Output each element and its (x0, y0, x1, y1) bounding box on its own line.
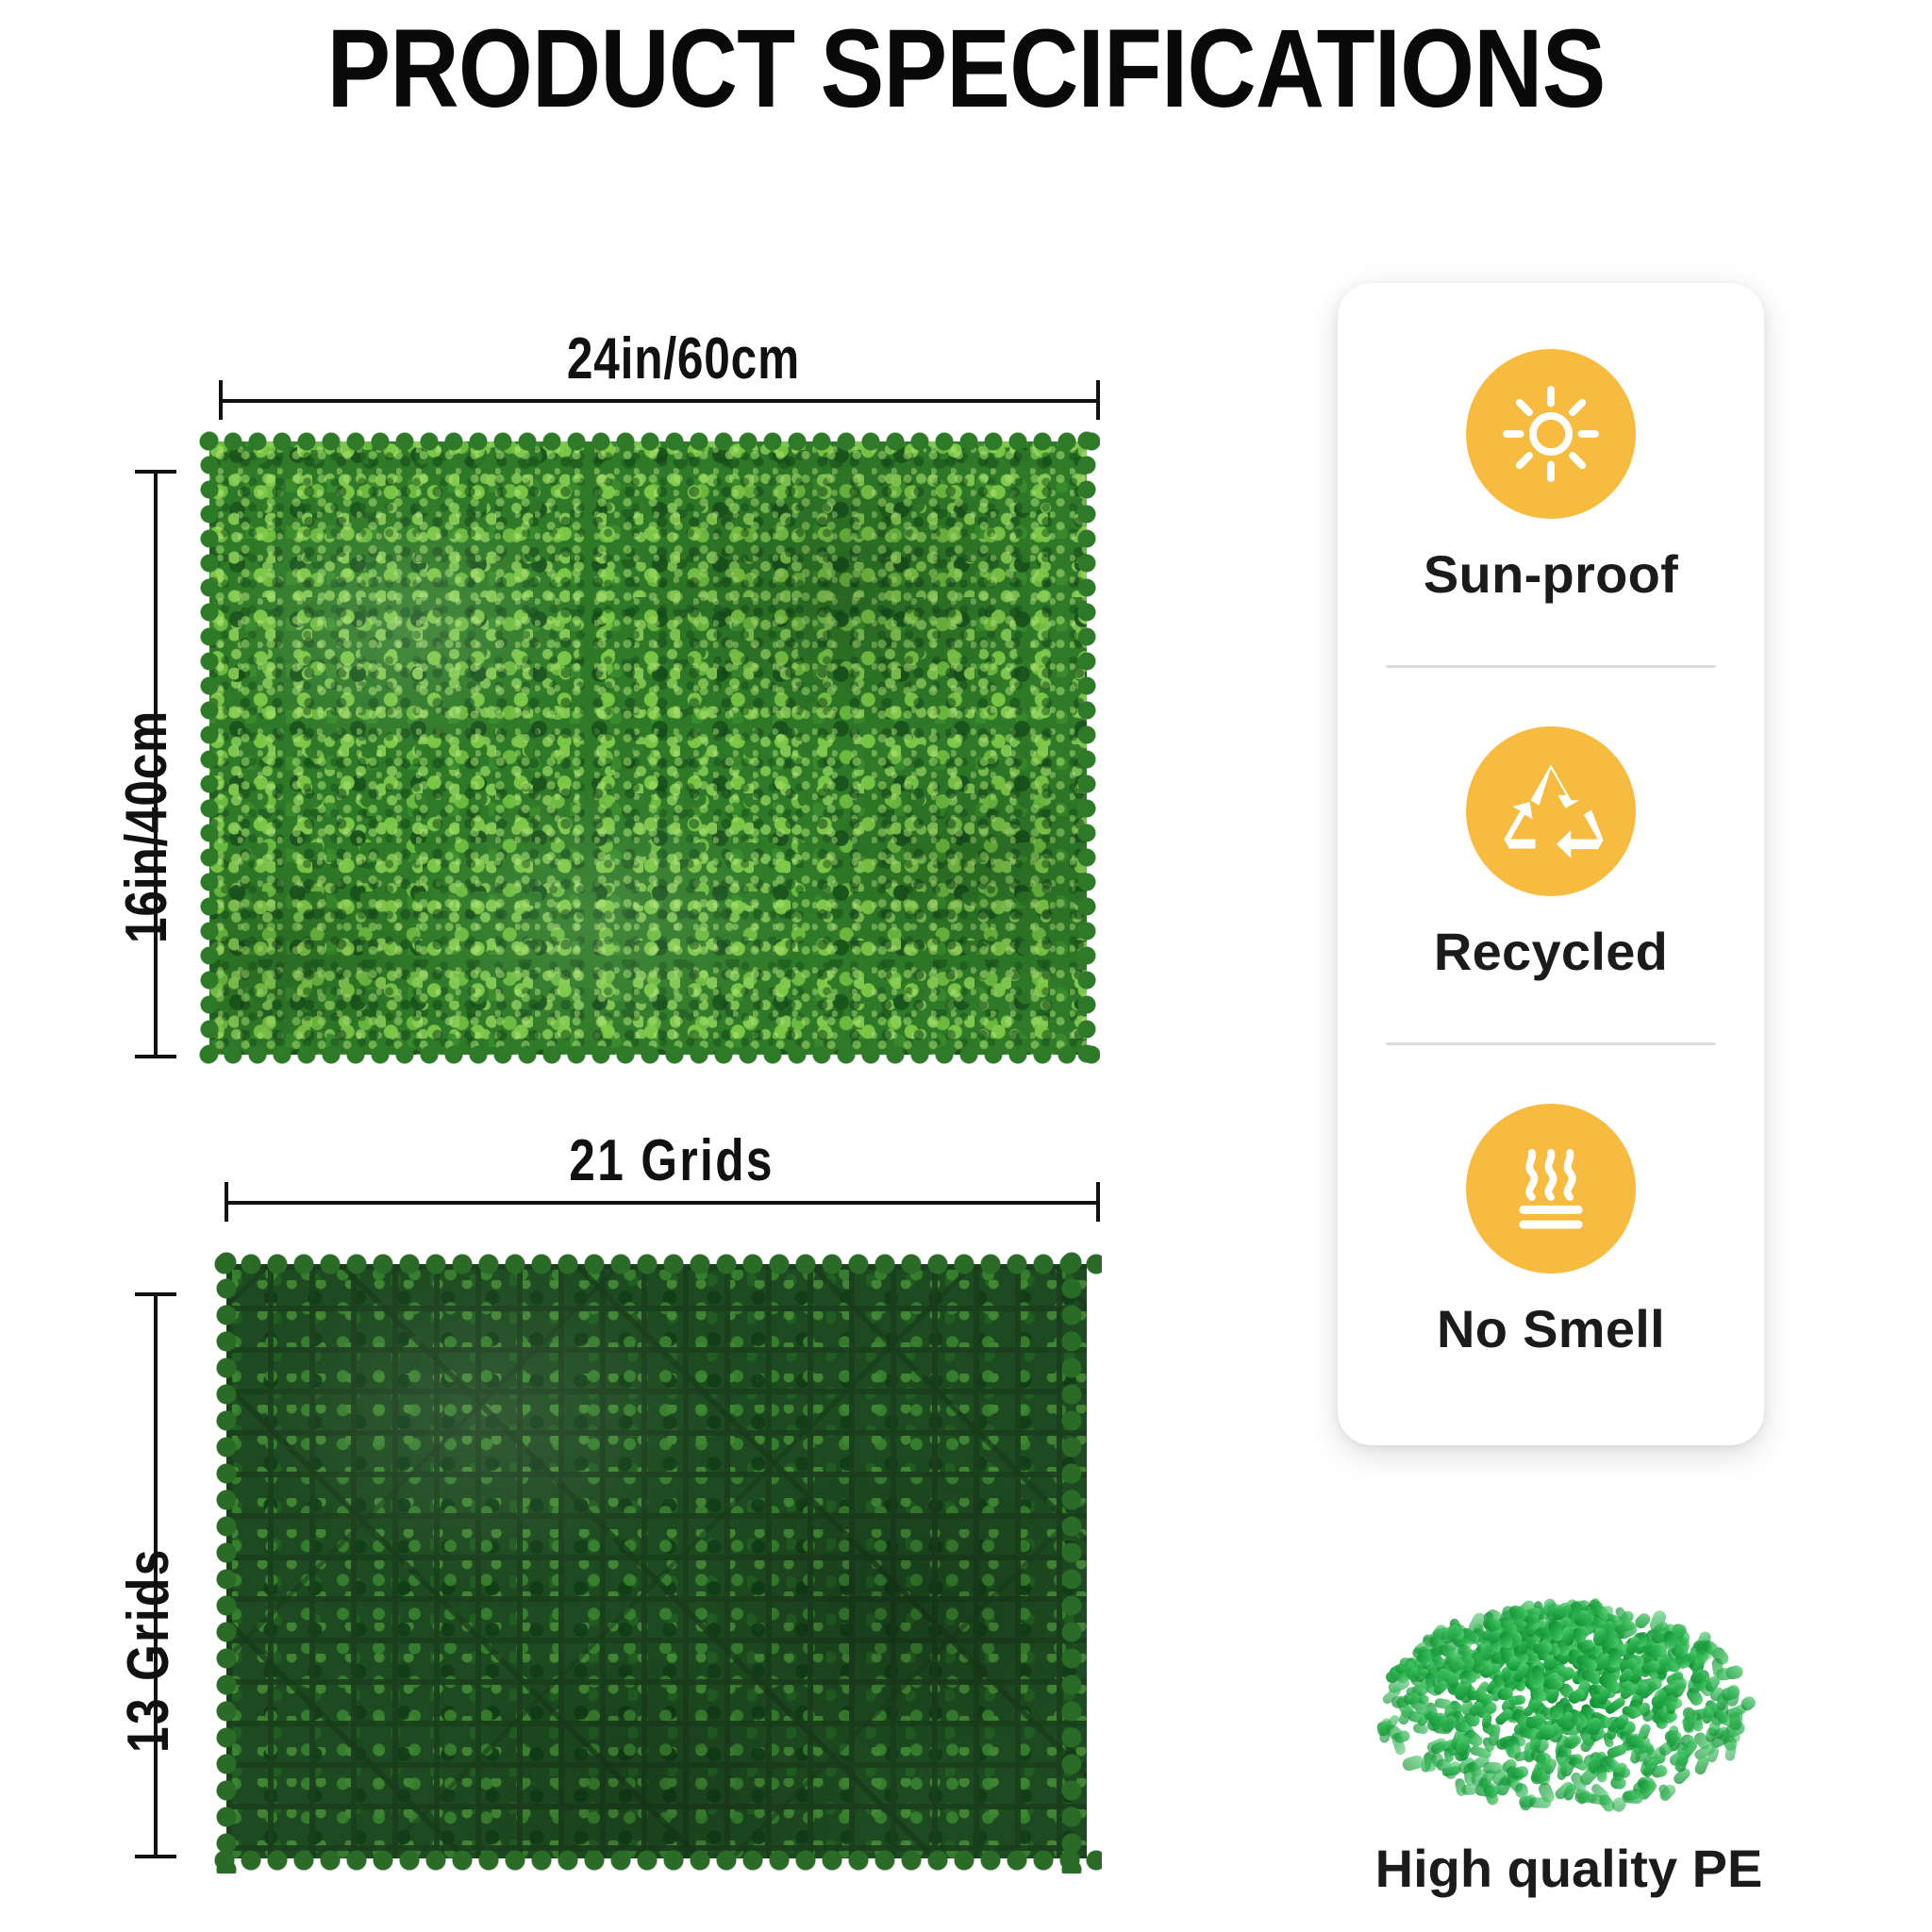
back-panel-width-dimension-line (225, 1201, 1100, 1205)
front-panel-height-cap-top (135, 470, 176, 474)
front-panel-width-cap-left (219, 380, 223, 420)
pellet-group (1375, 1597, 1758, 1814)
backing-foliage-texture (226, 1264, 1087, 1858)
recycle-icon (1495, 756, 1607, 867)
feature-label-sun-proof: Sun-proof (1424, 543, 1678, 605)
hedge-panel-front-image (209, 441, 1087, 1055)
back-panel-height-cap-bottom (135, 1855, 176, 1858)
sun-icon-badge (1466, 349, 1636, 519)
feature-divider-1 (1386, 665, 1716, 668)
feature-no-smell[interactable]: No Smell (1338, 1104, 1764, 1359)
feature-recycled[interactable]: Recycled (1338, 726, 1764, 982)
front-panel-width-cap-right (1096, 380, 1100, 420)
feature-label-no-smell: No Smell (1437, 1298, 1665, 1359)
hedge-panel-back-image (226, 1264, 1087, 1858)
front-panel-height-cap-bottom (135, 1055, 176, 1058)
page-title: PRODUCT SPECIFICATIONS (135, 13, 1796, 125)
front-panel-width-dimension-line (219, 399, 1100, 403)
feature-label-recycled: Recycled (1434, 921, 1668, 982)
pe-pellets-caption: High quality PE (1338, 1838, 1800, 1899)
back-panel-width-label: 21 Grids (569, 1127, 774, 1194)
back-panel-height-label: 13 Grids (115, 1547, 182, 1753)
back-panel-height-cap-top (135, 1292, 176, 1296)
feature-divider-2 (1386, 1042, 1716, 1045)
feature-sun-proof[interactable]: Sun-proof (1338, 349, 1764, 605)
recycle-icon-badge (1466, 726, 1636, 896)
back-panel-width-cap-right (1096, 1182, 1100, 1222)
sun-icon (1498, 381, 1604, 487)
steam-odor-icon-badge (1466, 1104, 1636, 1274)
back-panel-width-cap-left (225, 1182, 228, 1222)
pe-pellets-image (1357, 1543, 1772, 1817)
features-card: Sun-proof Recycled (1338, 283, 1764, 1445)
front-panel-width-label: 24in/60cm (567, 325, 800, 392)
steam-odor-icon (1498, 1136, 1604, 1241)
foliage-texture (209, 441, 1087, 1055)
front-panel-height-label: 16in/40cm (113, 710, 180, 943)
